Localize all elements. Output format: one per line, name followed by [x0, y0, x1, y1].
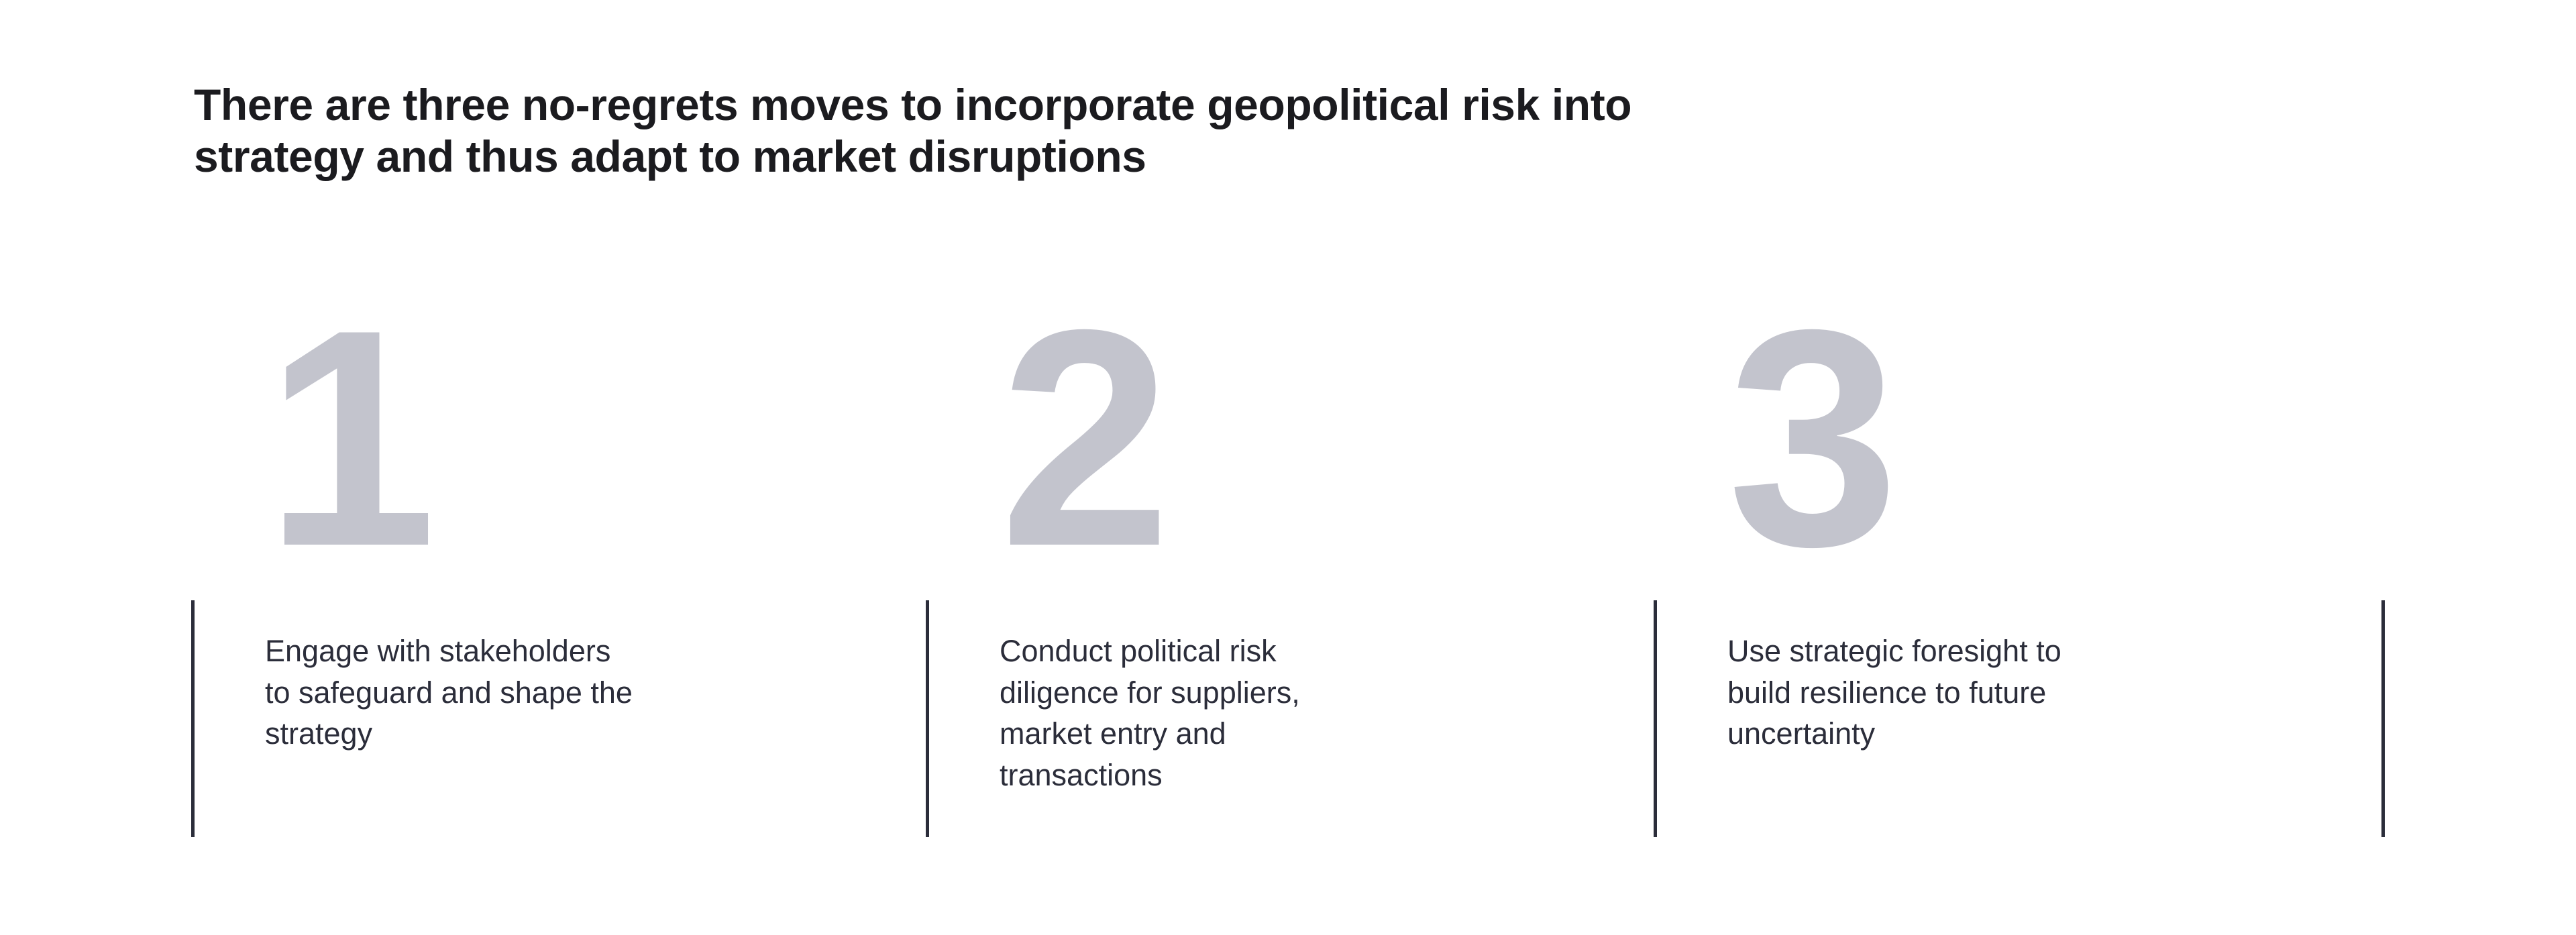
column-divider-4	[2381, 600, 2385, 837]
move-column-1: 1 Engage with stakeholders to safeguard …	[191, 295, 919, 845]
move-number-1: 1	[265, 295, 430, 582]
move-column-3: 3 Use strategic foresight to build resil…	[1654, 295, 2381, 845]
move-number-2: 2	[1000, 295, 1165, 582]
column-divider-1	[191, 600, 195, 837]
move-description-1: Engage with stakeholders to safeguard an…	[265, 630, 869, 755]
move-description-3: Use strategic foresight to build resilie…	[1727, 630, 2331, 755]
column-divider-3	[1654, 600, 1657, 837]
column-divider-2	[926, 600, 929, 837]
moves-column-group: 1 Engage with stakeholders to safeguard …	[0, 0, 2576, 935]
slide-canvas: There are three no-regrets moves to inco…	[0, 0, 2576, 935]
move-description-2: Conduct political risk diligence for sup…	[1000, 630, 1603, 796]
move-number-3: 3	[1727, 295, 1892, 582]
move-column-2: 2 Conduct political risk diligence for s…	[926, 295, 1654, 845]
